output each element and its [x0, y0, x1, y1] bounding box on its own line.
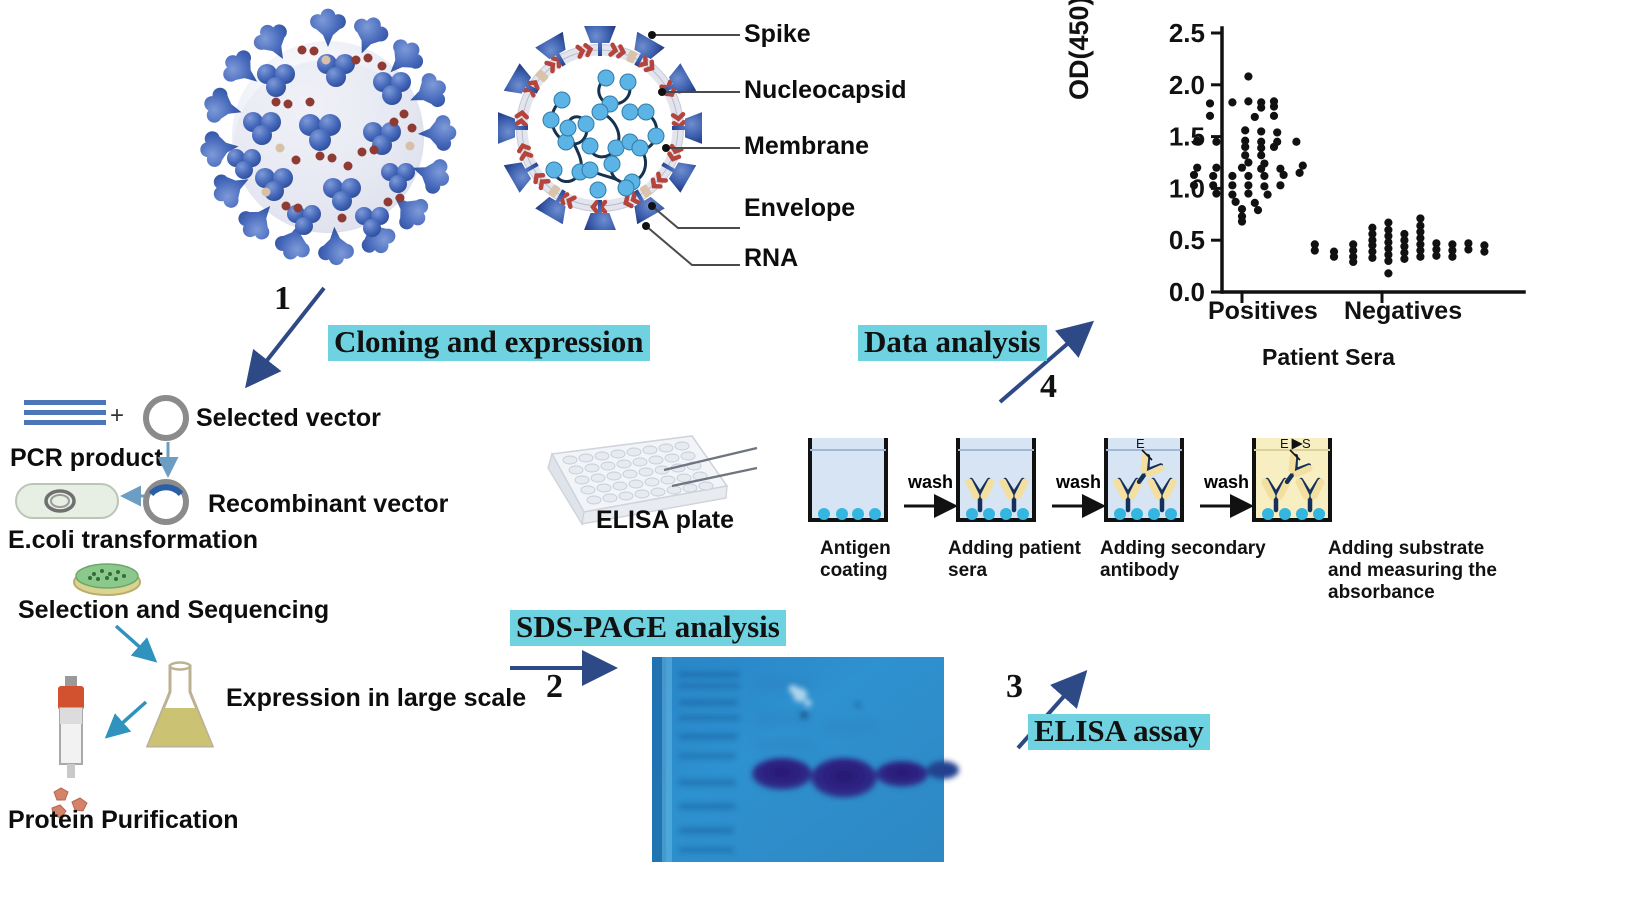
elisa-step-3-caption: Adding secondary antibody [1100, 538, 1266, 582]
step-2-label-text: SDS-PAGE analysis [510, 610, 786, 646]
svg-text:0.5: 0.5 [1169, 225, 1205, 255]
ecoli-cell-icon [14, 478, 122, 524]
scatter-point [1464, 245, 1472, 253]
scatter-point [1416, 253, 1424, 261]
scatter-point [1232, 198, 1240, 206]
step-2-arrow [506, 652, 626, 688]
elisa-well-3: E [1106, 436, 1182, 520]
selected-vector-label: Selected vector [196, 404, 381, 433]
scatter-point [1209, 181, 1217, 189]
scatter-point [1212, 138, 1220, 146]
scatter-point [1228, 172, 1236, 180]
purification-arrow [96, 698, 152, 746]
scatter-point [1244, 172, 1252, 180]
scatter-point [1206, 99, 1214, 107]
scatter-xtick-negatives: Negatives [1344, 297, 1462, 326]
virus-label-membrane: Membrane [744, 132, 869, 161]
step-1-number: 1 [274, 280, 291, 318]
purification-column-icon [50, 674, 92, 790]
virus-label-rna: RNA [744, 244, 798, 273]
elisa-well-2 [958, 438, 1034, 520]
scatter-point [1244, 189, 1252, 197]
scatter-point [1254, 206, 1262, 214]
scatter-point [1270, 112, 1278, 120]
selection-sequencing-label: Selection and Sequencing [18, 596, 329, 625]
step-2-number: 2 [546, 668, 563, 706]
scatter-point [1244, 97, 1252, 105]
step-3-label: ELISA assay [1028, 714, 1210, 750]
elisa-well-4: E S [1254, 436, 1330, 520]
scatter-point [1432, 252, 1440, 260]
scatter-point [1270, 143, 1278, 151]
scatter-point [1330, 253, 1338, 261]
elisa-well-sequence: wash wash E [800, 438, 1360, 548]
scatter-point [1448, 253, 1456, 261]
scatter-point [1244, 72, 1252, 80]
scatter-point [1190, 181, 1198, 189]
scatter-point [1260, 172, 1268, 180]
svg-text:E: E [1280, 436, 1289, 451]
scatter-point [1212, 164, 1220, 172]
svg-text:wash: wash [907, 472, 953, 492]
scatter-point [1257, 144, 1265, 152]
scatter-point [1257, 151, 1265, 159]
elisa-step-4-caption: Adding substrate and measuring the absor… [1328, 538, 1497, 604]
elisa-step-1-caption: Antigen coating [820, 538, 891, 582]
scatter-point [1384, 257, 1392, 265]
erlenmeyer-flask-icon [142, 662, 218, 754]
scatter-point [1244, 181, 1252, 189]
expression-label: Expression in large scale [226, 684, 526, 713]
scatter-point [1299, 162, 1307, 170]
step-1-label: Cloning and expression [328, 325, 650, 361]
scatter-point [1270, 102, 1278, 110]
scatter-point [1368, 254, 1376, 262]
elisa-step-2-caption: Adding patient sera [948, 538, 1081, 582]
coronavirus-particle [196, 6, 460, 268]
scatter-point [1251, 199, 1259, 207]
scatter-point [1241, 151, 1249, 159]
virus-label-spike: Spike [744, 20, 811, 49]
plus-sign: + [110, 402, 124, 430]
scatter-point [1244, 158, 1252, 166]
scatter-point [1190, 171, 1198, 179]
scatter-point [1238, 217, 1246, 225]
scatter-point [1228, 191, 1236, 199]
step-4-label-text: Data analysis [858, 325, 1047, 361]
svg-text:wash: wash [1203, 472, 1249, 492]
scatter-point [1296, 169, 1304, 177]
svg-text:1.5: 1.5 [1169, 122, 1205, 152]
sds-page-gel-photograph [652, 657, 944, 862]
step-3-label-text: ELISA assay [1028, 714, 1210, 750]
virus-leader-lines [600, 10, 760, 280]
scatter-point [1209, 172, 1217, 180]
scatter-point [1206, 112, 1214, 120]
scatter-point [1257, 103, 1265, 111]
scatter-point [1349, 258, 1357, 266]
selected-vector-icon [140, 392, 192, 444]
scatter-point [1260, 182, 1268, 190]
transformation-arrow [118, 486, 146, 506]
scatter-point [1257, 165, 1265, 173]
scatter-point [1193, 137, 1201, 145]
svg-text:0.0: 0.0 [1169, 277, 1205, 307]
svg-text:1.0: 1.0 [1169, 173, 1205, 203]
scatter-point [1251, 113, 1259, 121]
scatter-point [1241, 126, 1249, 134]
pcr-product-label: PCR product [10, 444, 163, 473]
step-3-number: 3 [1006, 668, 1023, 706]
virus-label-nucleocapsid: Nucleocapsid [744, 76, 907, 105]
svg-text:S: S [1302, 436, 1311, 451]
scatter-point [1311, 246, 1319, 254]
scatter-point [1241, 143, 1249, 151]
scatter-point [1238, 164, 1246, 172]
scatter-point [1212, 189, 1220, 197]
elisa-well-1 [810, 438, 886, 520]
scatter-point [1280, 171, 1288, 179]
scatter-point [1228, 181, 1236, 189]
step-1-label-text: Cloning and expression [328, 325, 650, 361]
scatter-point [1228, 98, 1236, 106]
scatter-xlabel: Patient Sera [1262, 344, 1395, 371]
scatter-ylabel: OD(450) [1064, 0, 1095, 100]
scatter-point [1384, 269, 1392, 277]
scatter-point [1193, 164, 1201, 172]
scatter-point [1257, 127, 1265, 135]
svg-text:2.0: 2.0 [1169, 70, 1205, 100]
scatter-point [1416, 214, 1424, 222]
svg-text:2.5: 2.5 [1169, 18, 1205, 48]
scatter-point [1238, 205, 1246, 213]
step-4-label: Data analysis [858, 325, 1047, 361]
petri-dish-icon [72, 558, 142, 598]
scatter-point [1292, 138, 1300, 146]
scatter-point [1273, 128, 1281, 136]
scatter-xtick-positives: Positives [1208, 297, 1318, 326]
recombinant-vector-label: Recombinant vector [208, 490, 448, 519]
scatter-point [1276, 181, 1284, 189]
scatter-point [1264, 191, 1272, 199]
elisa-plate-label: ELISA plate [596, 506, 734, 535]
od450-scatter-plot: 0.00.51.01.52.02.5 [1104, 6, 1534, 381]
ecoli-transformation-label: E.coli transformation [8, 526, 258, 555]
svg-text:wash: wash [1055, 472, 1101, 492]
recombinant-vector-icon [140, 476, 192, 528]
svg-text:E: E [1136, 436, 1145, 451]
scatter-point [1480, 248, 1488, 256]
virus-label-envelope: Envelope [744, 194, 855, 223]
step-4-number: 4 [1040, 368, 1057, 406]
scatter-point [1400, 255, 1408, 263]
step-2-label: SDS-PAGE analysis [510, 610, 786, 646]
protein-purification-label: Protein Purification [8, 806, 239, 835]
pcr-product-icon [24, 398, 106, 428]
scatter-point [1384, 218, 1392, 226]
